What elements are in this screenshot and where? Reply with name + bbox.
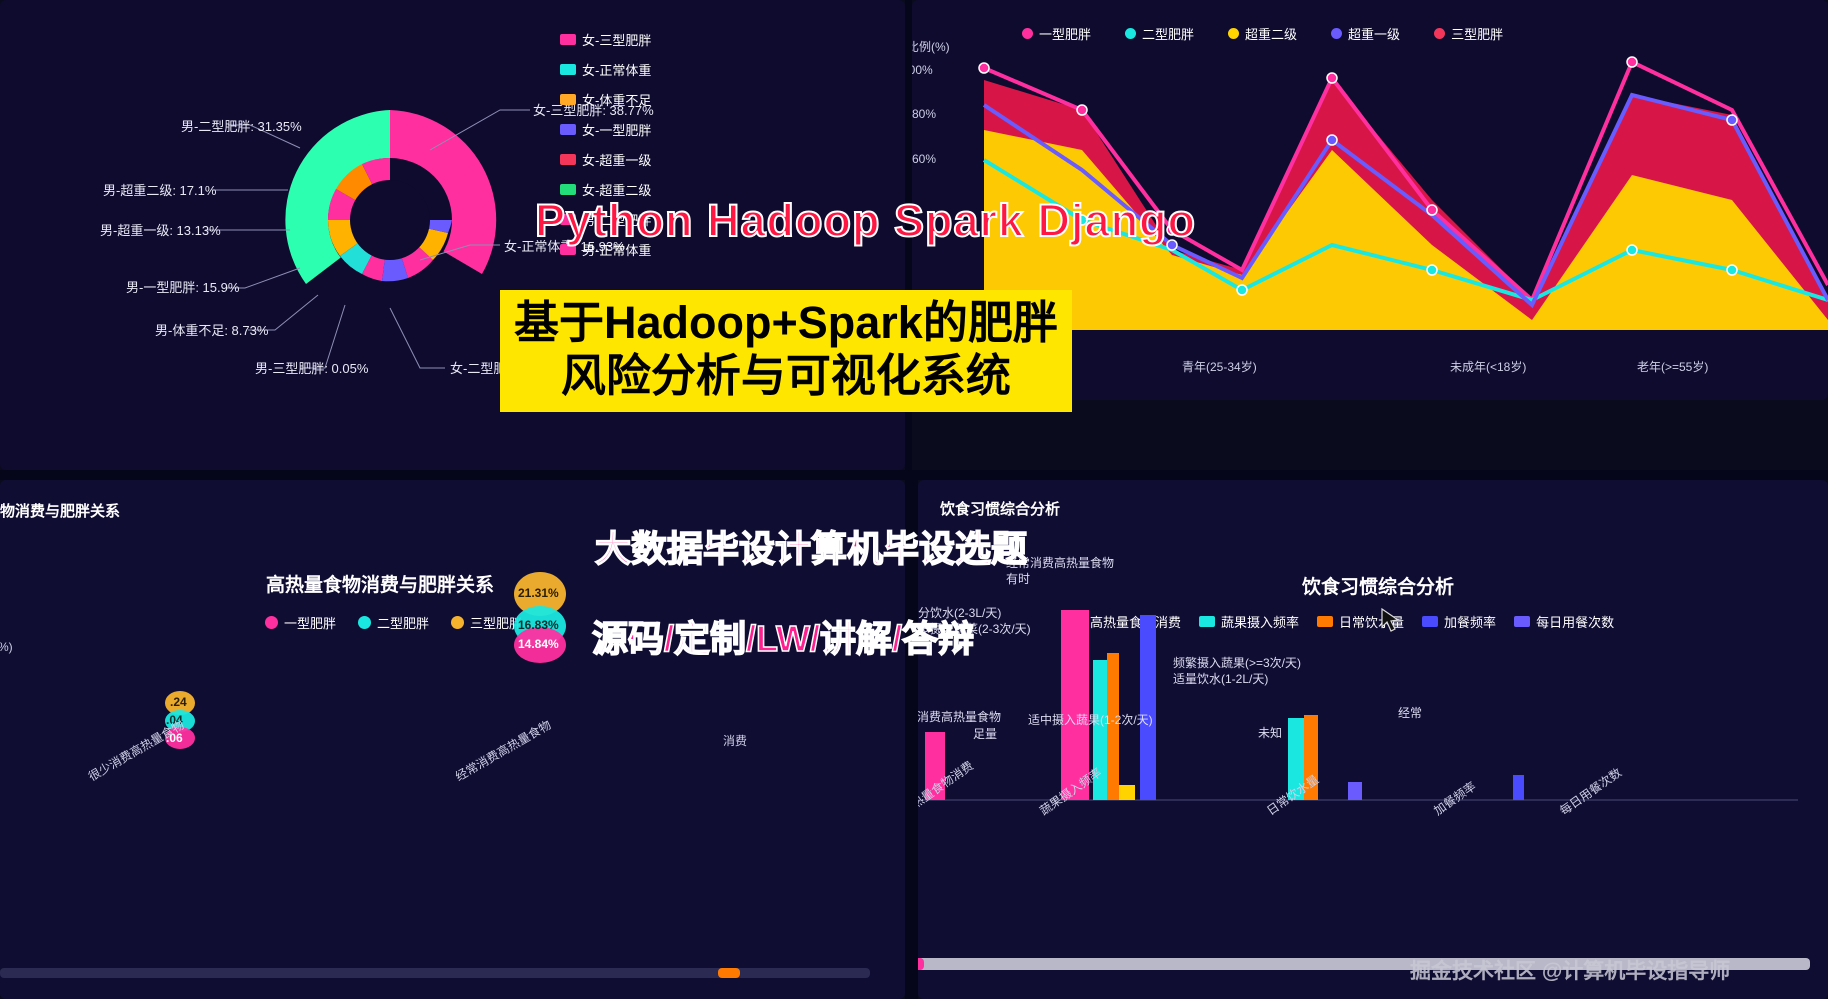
- scrollbar-thumb-left[interactable]: [718, 968, 740, 978]
- x-tick-youth: 青年(25-34岁): [1182, 358, 1257, 375]
- legend-item-female-overweight1[interactable]: 女-超重一级: [560, 150, 651, 169]
- legend-swatch: [560, 64, 576, 75]
- annotation-enough: 足量: [973, 725, 997, 742]
- bubble-label-2: 16.83%: [518, 618, 559, 632]
- bubble-label-1: 21.31%: [518, 586, 559, 600]
- legend-item-female-normal[interactable]: 女-正常体重: [560, 60, 651, 79]
- panel-divider-horizontal: [0, 470, 1828, 480]
- legend-label: 女-超重一级: [582, 150, 651, 169]
- pie-label-male-underweight: 男-体重不足: 8.73%: [155, 320, 268, 339]
- pie-label-male-overweight2: 男-超重二级: 17.1%: [103, 180, 216, 199]
- legend-item-female-type1[interactable]: 女-一型肥胖: [560, 120, 651, 139]
- x-tick-elderly: 老年(>=55岁): [1637, 358, 1708, 375]
- overlay-title-project-box: 基于Hadoop+Spark的肥胖 风险分析与可视化系统: [500, 290, 1072, 412]
- legend-swatch: [560, 124, 576, 135]
- legend-label: 女-正常体重: [582, 60, 651, 79]
- pie-label-male-type3: 男-三型肥胖: 0.05%: [255, 358, 368, 377]
- x-tick-minor: 未成年(<18岁): [1450, 358, 1526, 375]
- pie-label-male-type1: 男-一型肥胖: 15.9%: [126, 277, 239, 296]
- annotation-unknown: 未知: [1258, 724, 1282, 741]
- legend-label: 女-三型肥胖: [582, 30, 651, 49]
- legend-swatch: [560, 184, 576, 195]
- legend-item-female-underweight[interactable]: 女-体重不足: [560, 90, 651, 109]
- overlay-title-line2: 风险分析与可视化系统: [561, 350, 1011, 401]
- annotation-rarely-highcal: 很少消费高热量食物: [918, 708, 1001, 725]
- overlay-promo-line2: 源码/定制/LW/讲解/答辩: [592, 610, 974, 662]
- legend-swatch: [560, 94, 576, 105]
- legend-label: 女-体重不足: [582, 90, 651, 109]
- pie-label-male-type2: 男-二型肥胖: 31.35%: [181, 116, 302, 135]
- legend-swatch: [560, 34, 576, 45]
- bubble-label-4: .24: [170, 695, 187, 709]
- panel-diet-habits-bar: 饮食习惯综合分析 饮食习惯综合分析 高热量食物消费 蔬果摄入频率 日常饮水量 加…: [918, 480, 1828, 999]
- annotation-freq-veg: 频繁摄入蔬果(>=3次/天) 适量饮水(1-2L/天): [1173, 655, 1301, 687]
- legend-label: 女-一型肥胖: [582, 120, 651, 139]
- overlay-title-tech-stack: Python Hadoop Spark Django: [535, 195, 1196, 247]
- scrollbar-thumb-right[interactable]: [918, 958, 924, 970]
- overlay-promo-line1: 大数据毕设计算机毕设选题: [595, 520, 1027, 572]
- overlay-title-project: 基于Hadoop+Spark的肥胖 风险分析与可视化系统: [500, 290, 1072, 412]
- annotation-often: 经常: [1398, 704, 1422, 721]
- bubble-label-3: 14.84%: [518, 637, 559, 651]
- annotation-moderate-veg: 适中摄入蔬果(1-2次/天): [1028, 711, 1153, 728]
- legend-item-female-type3[interactable]: 女-三型肥胖: [560, 30, 651, 49]
- overlay-title-line1: 基于Hadoop+Spark的肥胖: [514, 297, 1058, 348]
- pie-label-male-overweight1: 男-超重一级: 13.13%: [100, 220, 221, 239]
- legend-swatch: [560, 154, 576, 165]
- watermark: 掘金技术社区 @计算机毕设指导师: [1410, 955, 1730, 985]
